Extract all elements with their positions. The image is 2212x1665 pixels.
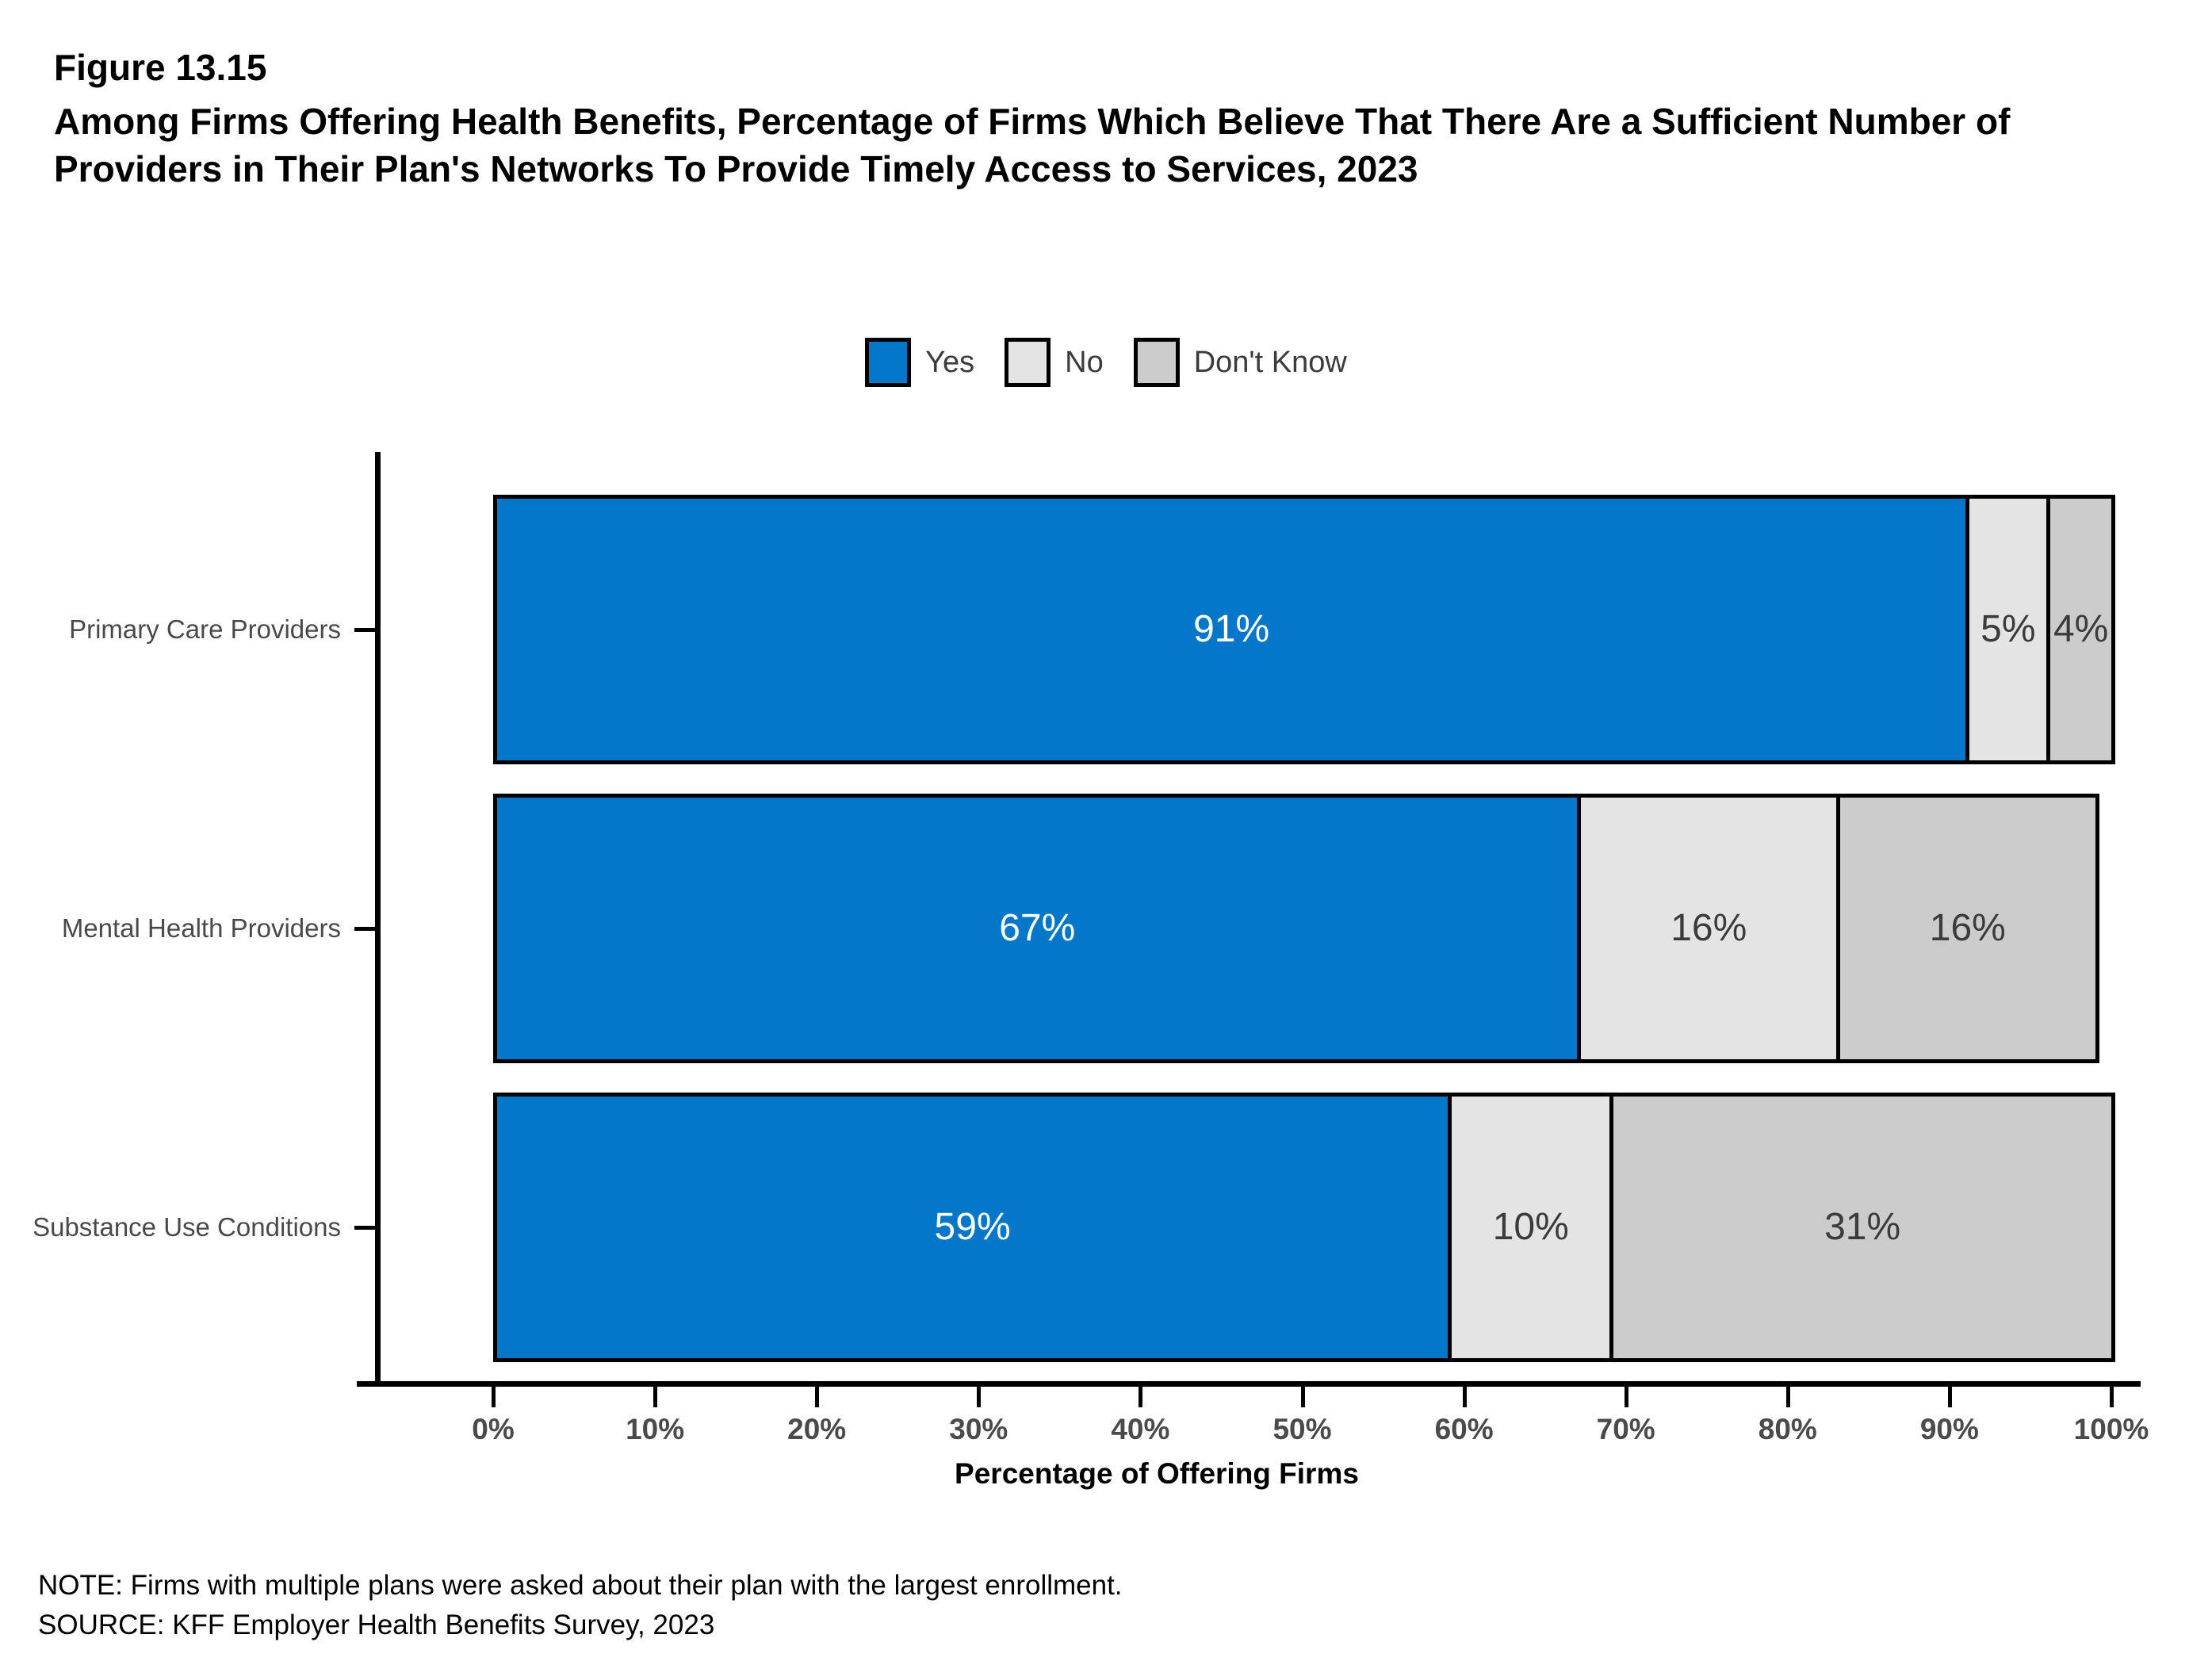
x-axis-tick [1463, 1387, 1467, 1407]
footer-source: SOURCE: KFF Employer Health Benefits Sur… [38, 1606, 1123, 1645]
x-axis-tick [1301, 1387, 1305, 1407]
bar-segment-value-label: 16% [1930, 909, 2006, 947]
chart-plot-area: Percentage of Offering Firms 0%10%20%30%… [0, 0, 2212, 1665]
bar-row: 67%16%16% [0, 794, 2212, 1063]
x-axis-tick-label: 80% [1759, 1413, 1817, 1446]
bar-segment-yes[interactable]: 91% [493, 495, 1969, 764]
bar-segment-value-label: 5% [1980, 610, 2035, 649]
bar-segment-value-label: 91% [1193, 610, 1269, 649]
x-axis-tick-label: 20% [787, 1413, 846, 1446]
bar-segment-value-label: 4% [2053, 610, 2108, 649]
x-axis-tick-label: 70% [1597, 1413, 1655, 1446]
bar-segment-no[interactable]: 5% [1965, 495, 2050, 764]
x-axis-tick [2110, 1387, 2114, 1407]
x-axis-title-text: Percentage of Offering Firms [955, 1457, 1359, 1491]
x-axis-tick [1625, 1387, 1628, 1407]
x-axis-tick [492, 1387, 496, 1407]
x-axis-tick [977, 1387, 981, 1407]
bar-segment-value-label: 16% [1670, 909, 1747, 947]
bar-segment-dk[interactable]: 4% [2046, 495, 2115, 764]
x-axis-tick [653, 1387, 657, 1407]
x-axis-tick-label: 50% [1272, 1413, 1331, 1446]
x-axis-tick [1139, 1387, 1142, 1407]
x-axis-line [357, 1381, 2141, 1387]
x-axis-tick-label: 40% [1111, 1413, 1169, 1446]
x-axis-title: Percentage of Offering Firms [0, 1457, 2212, 1491]
x-axis-tick-label: 10% [626, 1413, 684, 1446]
x-axis-tick [1948, 1387, 1952, 1407]
bar-segment-yes[interactable]: 59% [493, 1093, 1452, 1362]
bar-segment-no[interactable]: 16% [1577, 794, 1840, 1063]
x-axis-tick-label: 0% [472, 1413, 514, 1446]
bar-segment-dk[interactable]: 16% [1836, 794, 2099, 1063]
bar-segment-value-label: 10% [1493, 1208, 1569, 1246]
bar-segment-dk[interactable]: 31% [1609, 1093, 2115, 1362]
bar-segment-value-label: 31% [1824, 1208, 1900, 1246]
x-axis-tick [1786, 1387, 1790, 1407]
footer-note: NOTE: Firms with multiple plans were ask… [38, 1566, 1123, 1606]
bar-segment-yes[interactable]: 67% [493, 794, 1581, 1063]
figure-footer: NOTE: Firms with multiple plans were ask… [38, 1566, 1123, 1644]
x-axis-tick-label: 30% [949, 1413, 1008, 1446]
x-axis-tick-label: 90% [1920, 1413, 1979, 1446]
x-axis-tick-label: 60% [1435, 1413, 1494, 1446]
bar-segment-value-label: 67% [999, 909, 1075, 947]
bar-segment-no[interactable]: 10% [1448, 1093, 1613, 1362]
x-axis-tick [815, 1387, 819, 1407]
bar-row: 59%10%31% [0, 1093, 2212, 1362]
bar-row: 91%5%4% [0, 495, 2212, 764]
bar-segment-value-label: 59% [935, 1208, 1011, 1246]
x-axis-tick-label: 100% [2074, 1413, 2149, 1446]
